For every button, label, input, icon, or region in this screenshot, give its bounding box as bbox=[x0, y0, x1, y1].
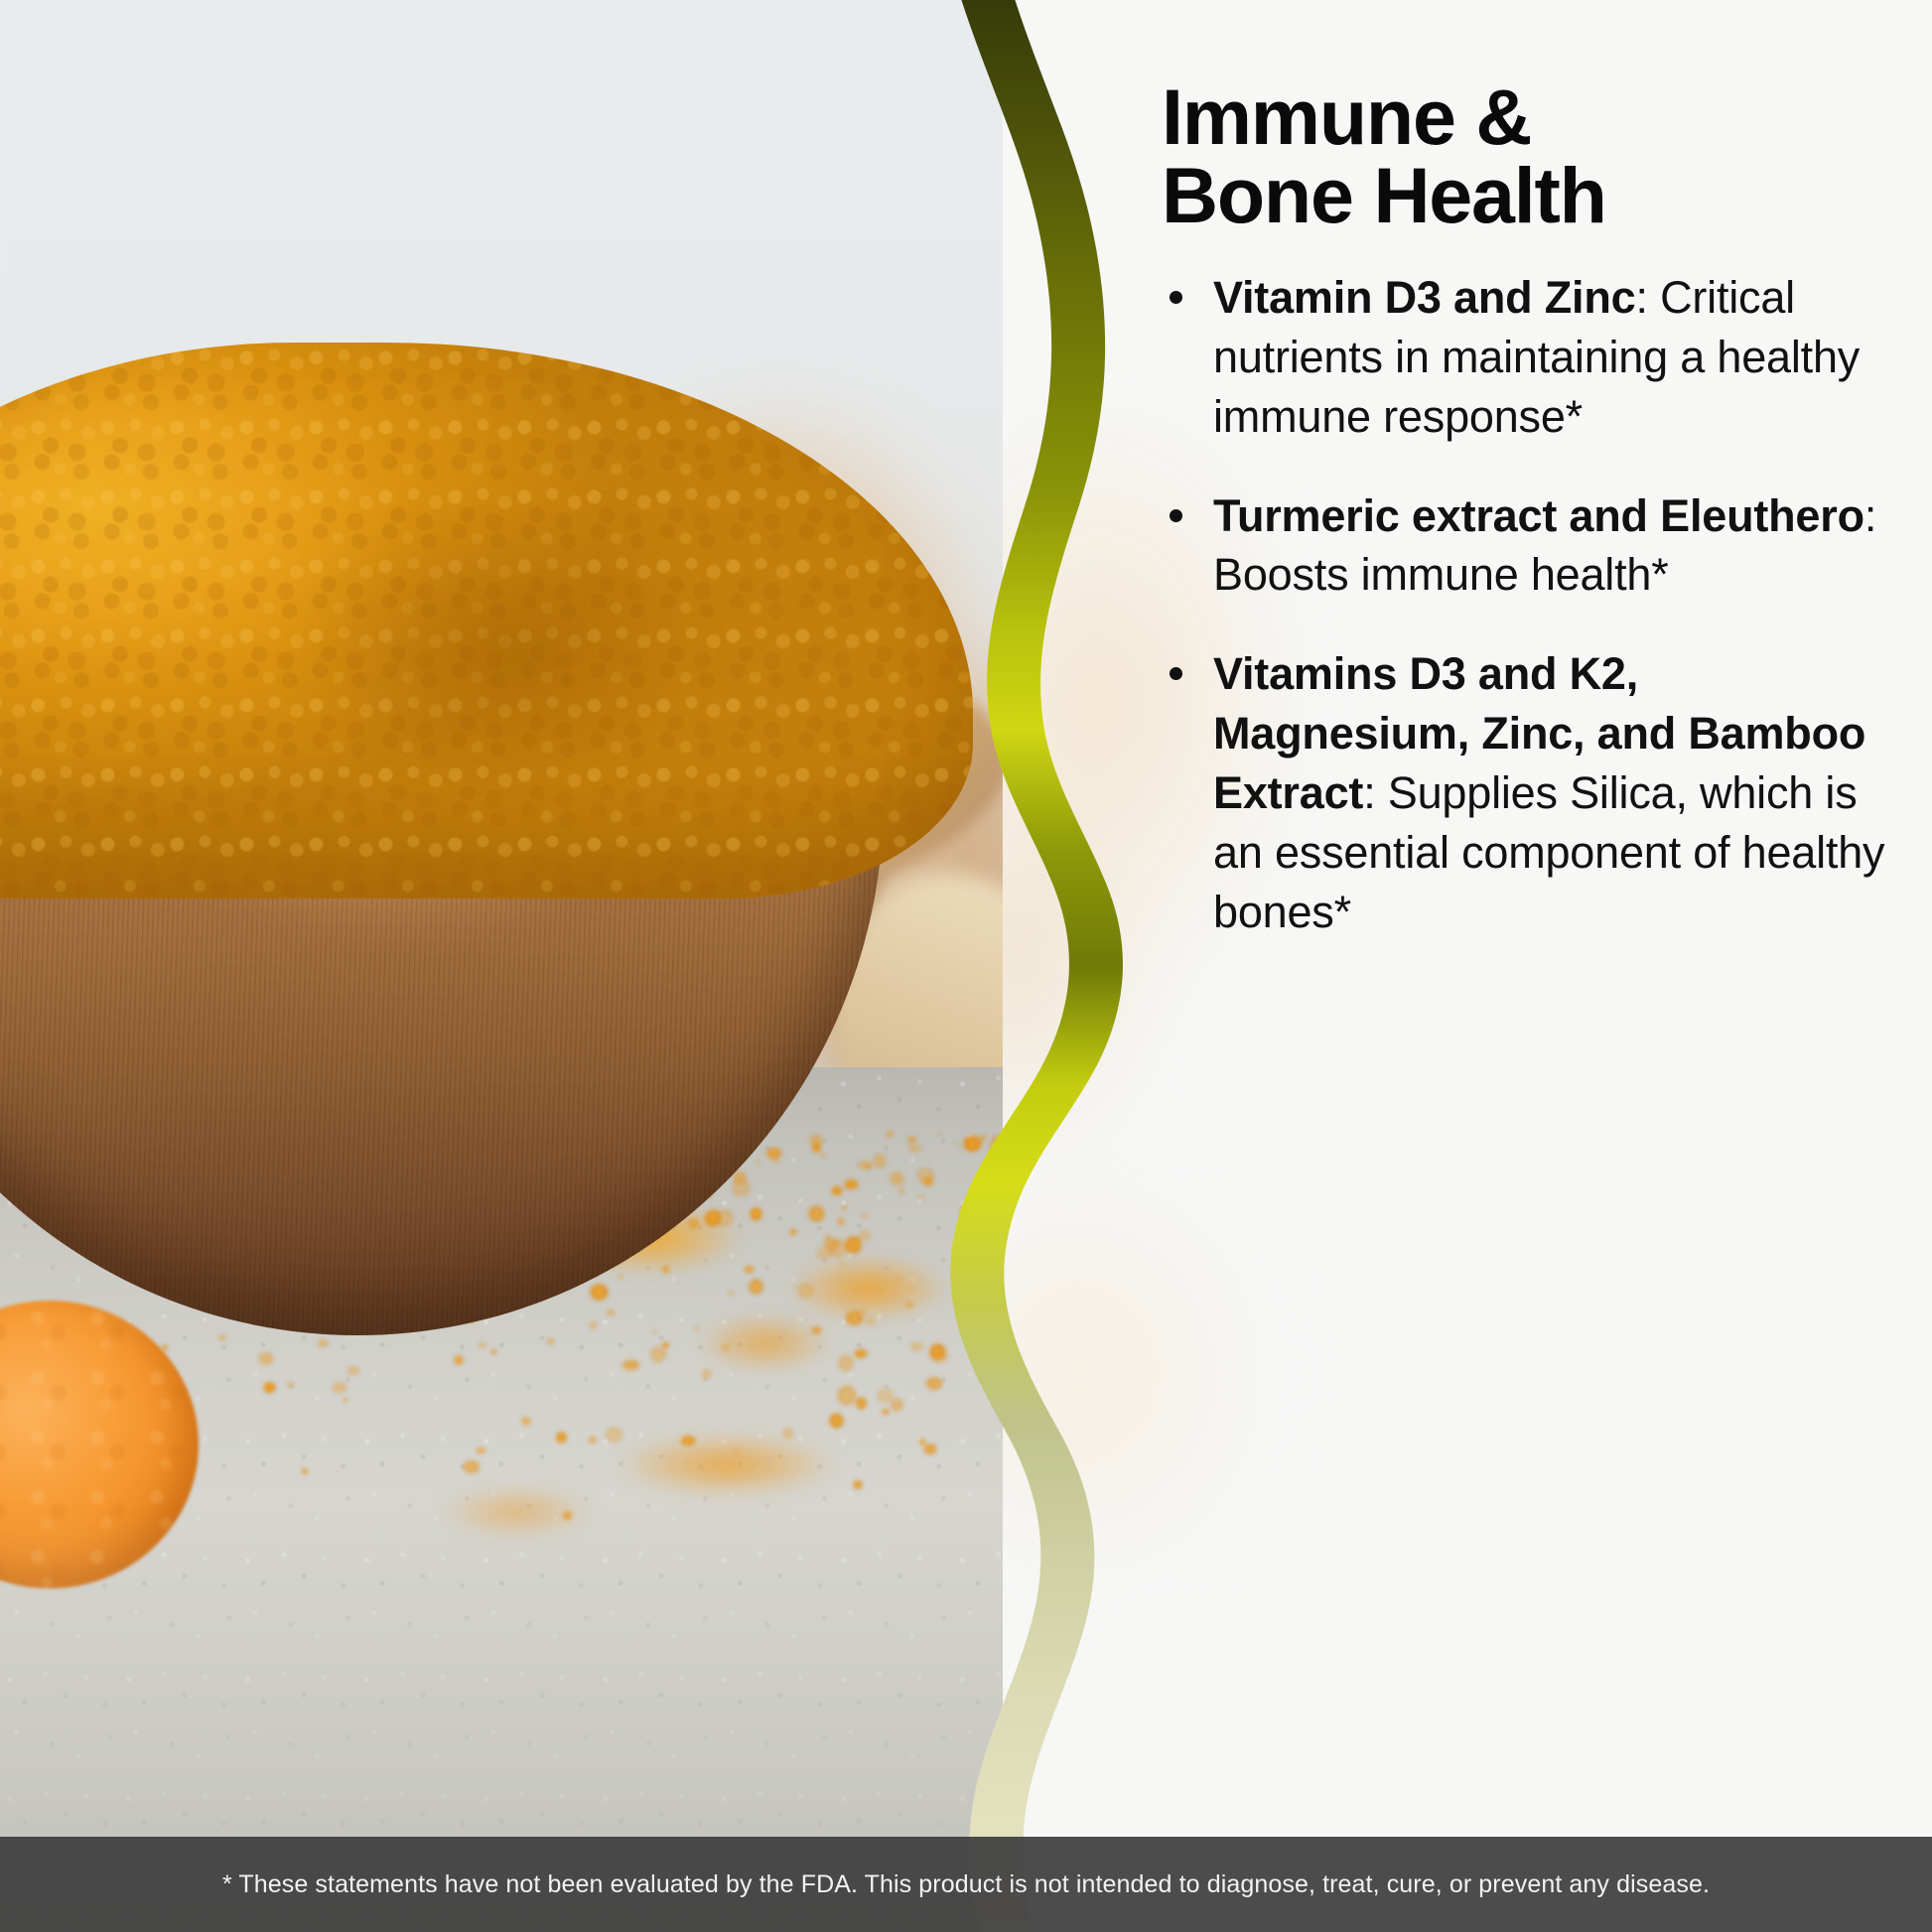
disclaimer-bar: * These statements have not been evaluat… bbox=[0, 1837, 1932, 1932]
benefit-item: Vitamins D3 and K2, Magnesium, Zinc, and… bbox=[1162, 644, 1896, 941]
turmeric-photo bbox=[0, 0, 1003, 1932]
page-title: Immune & Bone Health bbox=[1162, 77, 1896, 234]
content-panel: Immune & Bone Health Vitamin D3 and Zinc… bbox=[1003, 0, 1932, 1932]
benefit-item: Vitamin D3 and Zinc: Critical nutrients … bbox=[1162, 268, 1896, 447]
benefits-list: Vitamin D3 and Zinc: Critical nutrients … bbox=[1162, 268, 1896, 941]
benefit-lead: Vitamin D3 and Zinc bbox=[1213, 272, 1635, 323]
disclaimer-text: * These statements have not been evaluat… bbox=[222, 1870, 1710, 1899]
benefit-item: Turmeric extract and Eleuthero: Boosts i… bbox=[1162, 486, 1896, 606]
benefit-lead: Turmeric extract and Eleuthero bbox=[1213, 490, 1864, 541]
promo-graphic-canvas: Immune & Bone Health Vitamin D3 and Zinc… bbox=[0, 0, 1932, 1932]
turmeric-powder-mound bbox=[0, 343, 973, 898]
powder-shadow bbox=[288, 491, 705, 789]
content-inner: Immune & Bone Health Vitamin D3 and Zinc… bbox=[1162, 77, 1896, 941]
content-warm-tint-lower bbox=[1003, 1142, 1420, 1658]
photo-depth-blur-top bbox=[0, 0, 1003, 328]
